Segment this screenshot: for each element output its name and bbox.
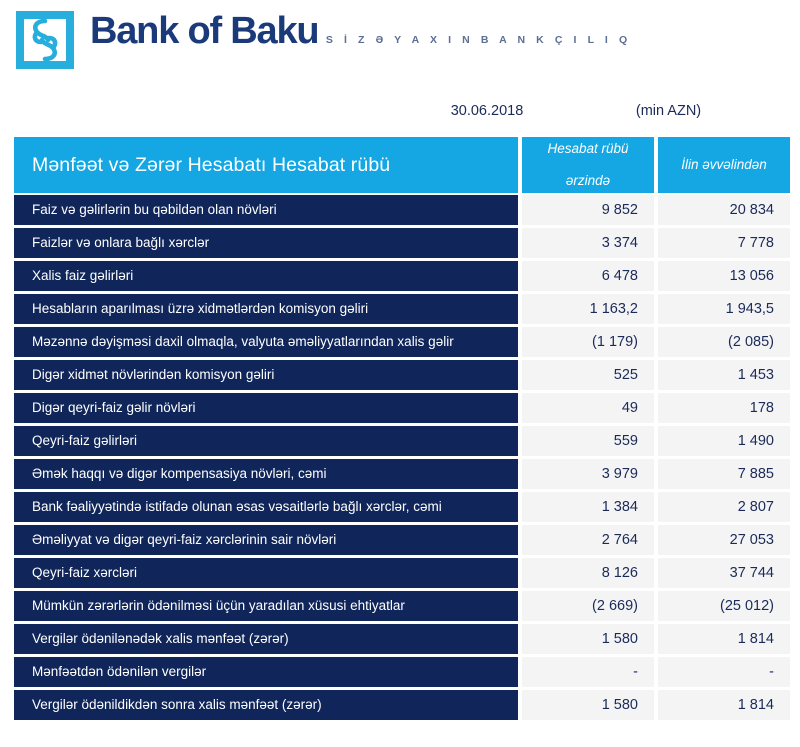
row-value-ytd: 1 814 bbox=[658, 690, 790, 720]
table-row: Qeyri-faiz xərcləri8 12637 744 bbox=[14, 558, 790, 588]
row-value-ytd: 2 807 bbox=[658, 492, 790, 522]
row-value-quarter: 525 bbox=[522, 360, 654, 390]
table-row: Faizlər və onlara bağlı xərclər3 3747 77… bbox=[14, 228, 790, 258]
row-value-ytd: (2 085) bbox=[658, 327, 790, 357]
column-header-quarter: Hesabat rübü ərzində bbox=[522, 137, 654, 193]
table-row: Məzənnə dəyişməsi daxil olmaqla, valyuta… bbox=[14, 327, 790, 357]
row-value-ytd: 13 056 bbox=[658, 261, 790, 291]
row-value-ytd: 20 834 bbox=[658, 195, 790, 225]
row-value-ytd: (25 012) bbox=[658, 591, 790, 621]
row-value-ytd: 7 778 bbox=[658, 228, 790, 258]
row-label: Digər qeyri-faiz gəlir növləri bbox=[14, 393, 518, 423]
row-value-ytd: 1 814 bbox=[658, 624, 790, 654]
row-value-quarter: (2 669) bbox=[522, 591, 654, 621]
table-row: Faiz və gəlirlərin bu qəbildən olan növl… bbox=[14, 195, 790, 225]
table-row: Əməliyyat və digər qeyri-faiz xərclərini… bbox=[14, 525, 790, 555]
table-title: Mənfəət və Zərər Hesabatı Hesabat rübü bbox=[14, 137, 518, 193]
table-row: Mümkün zərərlərin ödənilməsi üçün yaradı… bbox=[14, 591, 790, 621]
row-value-ytd: 27 053 bbox=[658, 525, 790, 555]
row-label: Əməliyyat və digər qeyri-faiz xərclərini… bbox=[14, 525, 518, 555]
row-label: Faizlər və onlara bağlı xərclər bbox=[14, 228, 518, 258]
row-value-ytd: - bbox=[658, 657, 790, 687]
table-row: Vergilər ödənildikdən sonra xalis mənfəə… bbox=[14, 690, 790, 720]
report-meta: 30.06.2018 (min AZN) bbox=[14, 103, 790, 125]
row-label: Mənfəətdən ödənilən vergilər bbox=[14, 657, 518, 687]
profit-loss-table: Mənfəət və Zərər Hesabatı Hesabat rübü H… bbox=[14, 137, 790, 723]
profit-loss-statement-page: Bank of Baku S İ Z Ə Y A X I N B A N K Ç… bbox=[0, 0, 800, 747]
table-row: Digər qeyri-faiz gəlir növləri49178 bbox=[14, 393, 790, 423]
row-label: Xalis faiz gəlirləri bbox=[14, 261, 518, 291]
row-label: Qeyri-faiz gəlirləri bbox=[14, 426, 518, 456]
row-label: Mümkün zərərlərin ödənilməsi üçün yaradı… bbox=[14, 591, 518, 621]
row-value-ytd: 1 943,5 bbox=[658, 294, 790, 324]
brand-name: Bank of Baku bbox=[90, 10, 318, 52]
row-value-quarter: - bbox=[522, 657, 654, 687]
row-value-ytd: 1 490 bbox=[658, 426, 790, 456]
row-value-quarter: 1 384 bbox=[522, 492, 654, 522]
table-row: Hesabların aparılması üzrə xidmətlərdən … bbox=[14, 294, 790, 324]
brand-slogan: S İ Z Ə Y A X I N B A N K Ç I L I Q bbox=[326, 34, 631, 46]
row-label: Digər xidmət növlərindən komisyon gəliri bbox=[14, 360, 518, 390]
row-label: Əmək haqqı və digər kompensasiya növləri… bbox=[14, 459, 518, 489]
row-label: Bank fəaliyyətində istifadə olunan əsas … bbox=[14, 492, 518, 522]
column-header-quarter-line2: ərzində bbox=[530, 173, 646, 189]
row-value-quarter: 2 764 bbox=[522, 525, 654, 555]
table-header-row: Mənfəət və Zərər Hesabatı Hesabat rübü H… bbox=[14, 137, 790, 193]
column-header-ytd: İlin əvvəlindən bbox=[658, 137, 790, 193]
row-value-quarter: 3 979 bbox=[522, 459, 654, 489]
brand-wordmark: Bank of Baku S İ Z Ə Y A X I N B A N K Ç… bbox=[90, 8, 631, 52]
row-value-quarter: 9 852 bbox=[522, 195, 654, 225]
row-label: Vergilər ödənildikdən sonra xalis mənfəə… bbox=[14, 690, 518, 720]
column-header-ytd-line1: İlin əvvəlindən bbox=[666, 157, 782, 173]
table-row: Digər xidmət növlərindən komisyon gəliri… bbox=[14, 360, 790, 390]
row-value-quarter: 3 374 bbox=[522, 228, 654, 258]
row-value-quarter: 1 580 bbox=[522, 624, 654, 654]
table-row: Əmək haqqı və digər kompensasiya növləri… bbox=[14, 459, 790, 489]
report-date: 30.06.2018 bbox=[437, 103, 537, 119]
table-row: Bank fəaliyyətində istifadə olunan əsas … bbox=[14, 492, 790, 522]
brand-header: Bank of Baku S İ Z Ə Y A X I N B A N K Ç… bbox=[14, 8, 631, 71]
row-value-quarter: (1 179) bbox=[522, 327, 654, 357]
table-row: Mənfəətdən ödənilən vergilər-- bbox=[14, 657, 790, 687]
row-value-quarter: 49 bbox=[522, 393, 654, 423]
table-row: Xalis faiz gəlirləri6 47813 056 bbox=[14, 261, 790, 291]
row-value-quarter: 1 580 bbox=[522, 690, 654, 720]
row-value-ytd: 7 885 bbox=[658, 459, 790, 489]
table-row: Vergilər ödənilənədək xalis mənfəət (zər… bbox=[14, 624, 790, 654]
row-value-quarter: 8 126 bbox=[522, 558, 654, 588]
row-value-quarter: 1 163,2 bbox=[522, 294, 654, 324]
table-body: Faiz və gəlirlərin bu qəbildən olan növl… bbox=[14, 195, 790, 720]
row-value-ytd: 1 453 bbox=[658, 360, 790, 390]
row-value-ytd: 178 bbox=[658, 393, 790, 423]
row-value-quarter: 559 bbox=[522, 426, 654, 456]
bank-of-baku-logo-icon bbox=[14, 9, 76, 71]
row-value-quarter: 6 478 bbox=[522, 261, 654, 291]
row-label: Qeyri-faiz xərcləri bbox=[14, 558, 518, 588]
currency-unit: (min AZN) bbox=[611, 103, 726, 119]
row-label: Vergilər ödənilənədək xalis mənfəət (zər… bbox=[14, 624, 518, 654]
column-header-quarter-line1: Hesabat rübü bbox=[530, 141, 646, 157]
table-row: Qeyri-faiz gəlirləri5591 490 bbox=[14, 426, 790, 456]
row-label: Faiz və gəlirlərin bu qəbildən olan növl… bbox=[14, 195, 518, 225]
row-label: Məzənnə dəyişməsi daxil olmaqla, valyuta… bbox=[14, 327, 518, 357]
row-value-ytd: 37 744 bbox=[658, 558, 790, 588]
row-label: Hesabların aparılması üzrə xidmətlərdən … bbox=[14, 294, 518, 324]
